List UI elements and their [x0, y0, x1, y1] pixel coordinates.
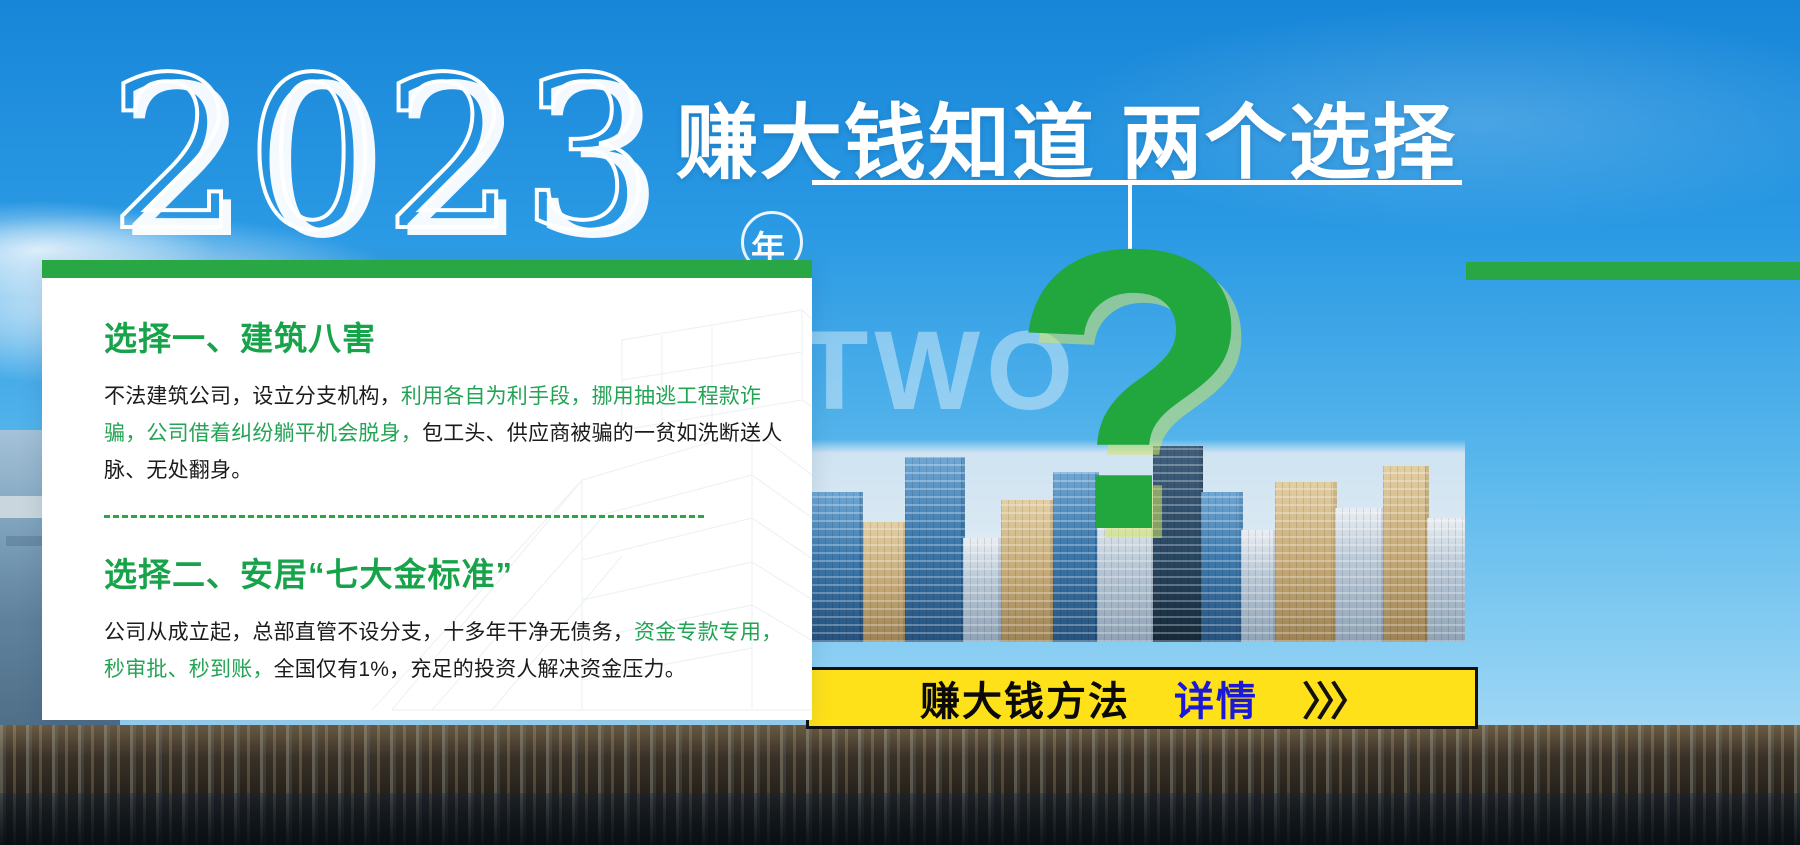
year-text: 2023: [108, 52, 728, 257]
cta-detail-link[interactable]: 详情: [1174, 669, 1258, 727]
year-graphic: 2023 年: [108, 52, 728, 262]
section-body-part: 公司从成立起，总部直管不设分支，十多年干净无债务，: [104, 621, 634, 644]
building: [1001, 500, 1055, 642]
card-content: 选择一、建筑八害 不法建筑公司，设立分支机构，利用各自为利手段，挪用抽逃工程款诈…: [104, 312, 794, 688]
section-divider: [104, 515, 704, 518]
headline-divider: [812, 180, 1462, 185]
city-photo: [805, 192, 1465, 642]
building: [1383, 466, 1429, 642]
building: [863, 522, 907, 642]
section-body-part: 不法建筑公司，设立分支机构，: [104, 385, 401, 408]
page-title: 赚大钱知道 两个选择: [676, 76, 1457, 195]
chevron-right-icon: 〉〉〉: [1302, 669, 1364, 727]
building: [1427, 518, 1465, 642]
building: [905, 457, 965, 642]
card-section-one: 选择一、建筑八害 不法建筑公司，设立分支机构，利用各自为利手段，挪用抽逃工程款诈…: [104, 312, 794, 489]
building: [1335, 508, 1385, 642]
cta-banner[interactable]: 赚大钱方法 详情 〉〉〉: [806, 667, 1478, 729]
building: [1201, 492, 1243, 642]
building: [1241, 530, 1277, 642]
poster-banner: 2023 年 赚大钱知道 两个选择 TWO CHOICES ?: [0, 0, 1800, 845]
city-skyline: [805, 427, 1465, 642]
card-top-accent-bar: [42, 260, 812, 278]
building: [1097, 514, 1155, 642]
bottom-skyline-strip: [0, 725, 1800, 845]
building: [1275, 482, 1337, 642]
section-body: 不法建筑公司，设立分支机构，利用各自为利手段，挪用抽逃工程款诈骗，公司借着纠纷躺…: [104, 378, 794, 489]
building: [811, 492, 863, 642]
building: [963, 538, 1003, 642]
content-card: 选择一、建筑八害 不法建筑公司，设立分支机构，利用各自为利手段，挪用抽逃工程款诈…: [42, 260, 812, 720]
section-title: 选择二、安居“七大金标准”: [104, 548, 794, 596]
section-body-part: 全国仅有1%，充足的投资人解决资金压力。: [274, 658, 686, 681]
cta-main-label: 赚大钱方法: [920, 669, 1130, 727]
section-title: 选择一、建筑八害: [104, 312, 794, 360]
green-accent-bar: [1466, 262, 1800, 280]
building: [1153, 446, 1203, 642]
section-body: 公司从成立起，总部直管不设分支，十多年干净无债务，资金专款专用，秒审批、秒到账，…: [104, 614, 794, 688]
building: [1053, 472, 1099, 642]
card-section-two: 选择二、安居“七大金标准” 公司从成立起，总部直管不设分支，十多年干净无债务，资…: [104, 548, 794, 688]
